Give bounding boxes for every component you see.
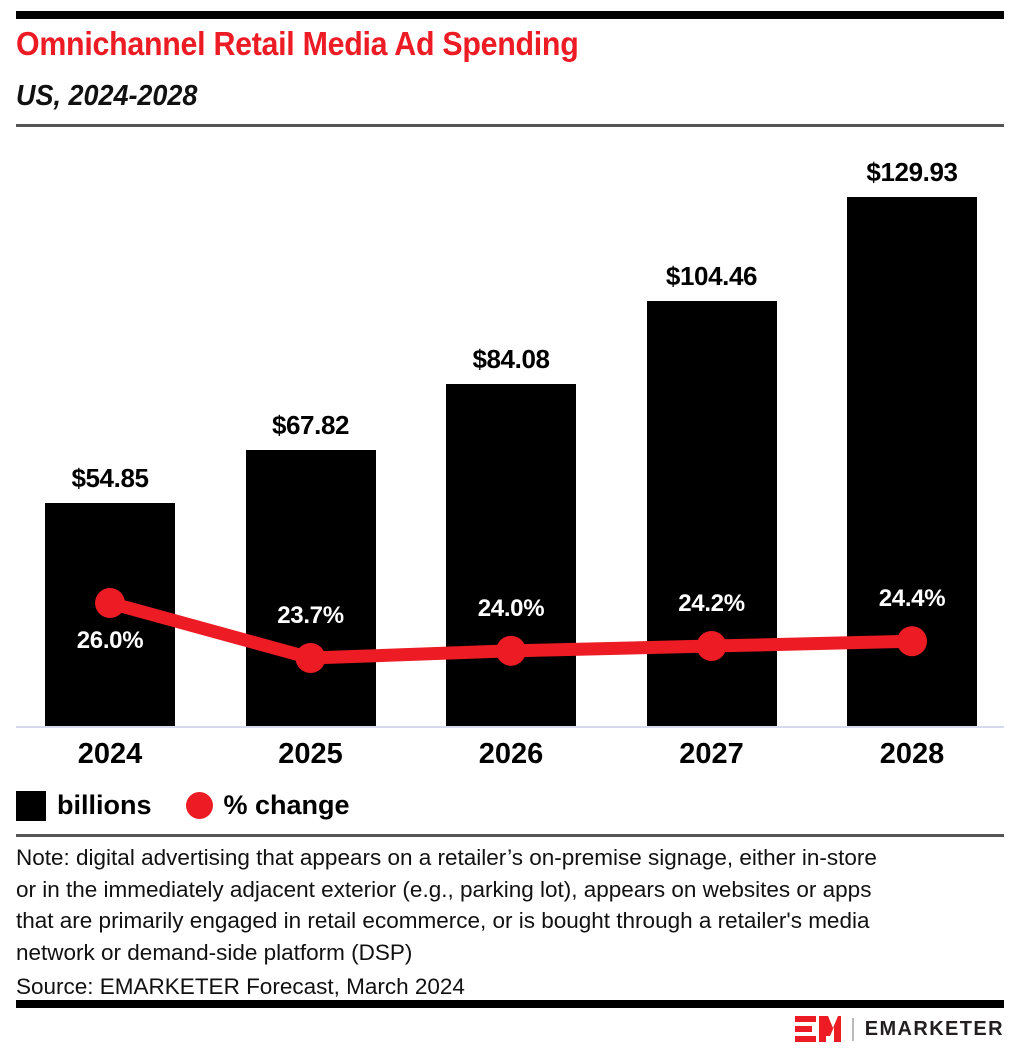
bar-2028[interactable] bbox=[847, 197, 977, 726]
legend: billions % change bbox=[16, 790, 350, 821]
note-text: Note: digital advertising that appears o… bbox=[16, 842, 976, 968]
legend-label-billions: billions bbox=[57, 790, 152, 821]
legend-square-icon bbox=[16, 791, 46, 821]
x-tick-2024: 2024 bbox=[30, 738, 190, 771]
percent-label-2027: 24.2% bbox=[632, 590, 792, 618]
emarketer-logo[interactable]: EMARKETER bbox=[795, 1016, 1004, 1042]
chart-subtitle: US, 2024-2028 bbox=[16, 78, 909, 114]
legend-circle-icon bbox=[186, 792, 213, 819]
legend-label-percent-change: % change bbox=[224, 790, 350, 821]
bar-value-label-2025: $67.82 bbox=[211, 410, 411, 441]
note-divider bbox=[16, 834, 1004, 837]
percent-label-2024: 26.0% bbox=[30, 627, 190, 655]
footnote: Note: digital advertising that appears o… bbox=[16, 842, 976, 1003]
percent-label-2026: 24.0% bbox=[431, 595, 591, 623]
subtitle-divider bbox=[16, 124, 1004, 127]
note-line-4: network or demand-side platform (DSP) bbox=[16, 937, 976, 969]
bottom-rule bbox=[16, 1000, 1004, 1008]
top-rule bbox=[16, 11, 1004, 19]
x-tick-2028: 2028 bbox=[832, 738, 992, 771]
brand-wordmark: EMARKETER bbox=[865, 1018, 1004, 1041]
source-text: Source: EMARKETER Forecast, March 2024 bbox=[16, 971, 976, 1003]
x-tick-2026: 2026 bbox=[431, 738, 591, 771]
legend-item-billions[interactable]: billions bbox=[16, 790, 152, 821]
x-tick-2025: 2025 bbox=[231, 738, 391, 771]
bar-2026[interactable] bbox=[446, 384, 576, 726]
em-mark-icon bbox=[795, 1016, 841, 1042]
bar-2025[interactable] bbox=[246, 450, 376, 726]
bar-value-label-2027: $104.46 bbox=[612, 261, 812, 292]
bar-2027[interactable] bbox=[647, 301, 777, 726]
note-line-2: or in the immediately adjacent exterior … bbox=[16, 874, 976, 906]
bar-2024[interactable] bbox=[45, 503, 175, 726]
note-line-3: that are primarily engaged in retail eco… bbox=[16, 905, 976, 937]
x-axis-line bbox=[16, 726, 1004, 728]
percent-label-2028: 24.4% bbox=[832, 585, 992, 613]
plot-area: $54.85$67.82$84.08$104.46$129.93 26.0%23… bbox=[0, 140, 1020, 740]
bar-value-label-2026: $84.08 bbox=[411, 344, 611, 375]
legend-item-percent-change[interactable]: % change bbox=[186, 790, 350, 821]
chart-card: Omnichannel Retail Media Ad Spending US,… bbox=[0, 0, 1020, 1048]
page-title: Omnichannel Retail Media Ad Spending bbox=[16, 24, 899, 64]
brand-divider bbox=[852, 1018, 854, 1041]
percent-label-2025: 23.7% bbox=[231, 602, 391, 630]
bar-value-label-2024: $54.85 bbox=[10, 463, 210, 494]
note-line-1: Note: digital advertising that appears o… bbox=[16, 842, 976, 874]
bar-value-label-2028: $129.93 bbox=[812, 157, 1012, 188]
x-tick-2027: 2027 bbox=[632, 738, 792, 771]
